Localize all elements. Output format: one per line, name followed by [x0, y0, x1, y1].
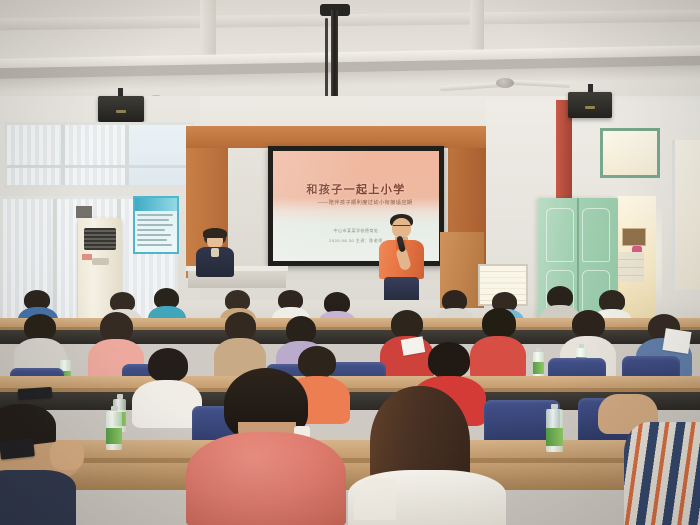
- projector-pole: [331, 10, 338, 108]
- ac-vent-grille-icon: [84, 228, 116, 250]
- salmon-tshirt: [186, 432, 346, 525]
- water-bottle[interactable]: [546, 404, 563, 452]
- wall-notice-right: [622, 228, 646, 246]
- smartphone[interactable]: [0, 438, 35, 459]
- speaker-brand-plate: [116, 110, 126, 113]
- ceiling-fan-right: [440, 76, 570, 94]
- water-bottle[interactable]: [106, 406, 122, 450]
- ac-control-panel[interactable]: [92, 258, 109, 265]
- projector-cable: [325, 18, 328, 108]
- audience-man-salmon-foreground: [186, 368, 346, 525]
- wood-panel-header: [186, 126, 486, 148]
- ac-wall-plate: [76, 206, 92, 218]
- window-right: [600, 128, 660, 178]
- audience-man-striped-right-foreground: [596, 394, 700, 525]
- speaker-left: [98, 96, 144, 122]
- classroom-photo: 和孩子一起上小学 ——陪伴孩子顺利度过幼小衔接适应期 中山市某某学校德育处 20…: [0, 0, 700, 525]
- audience-man-left-foreground: [0, 404, 100, 525]
- wall-poster-header: [135, 198, 177, 211]
- smartphone[interactable]: [18, 387, 53, 400]
- audience-woman-white-blouse-foreground: [348, 386, 506, 525]
- ac-badge: [82, 254, 92, 260]
- hand: [50, 440, 84, 470]
- glasses-icon: [393, 225, 410, 230]
- wall-poster-text: [137, 214, 175, 250]
- speaker-brand-plate: [585, 106, 595, 109]
- speaker-right: [568, 92, 612, 118]
- window-upper-left: [4, 122, 194, 188]
